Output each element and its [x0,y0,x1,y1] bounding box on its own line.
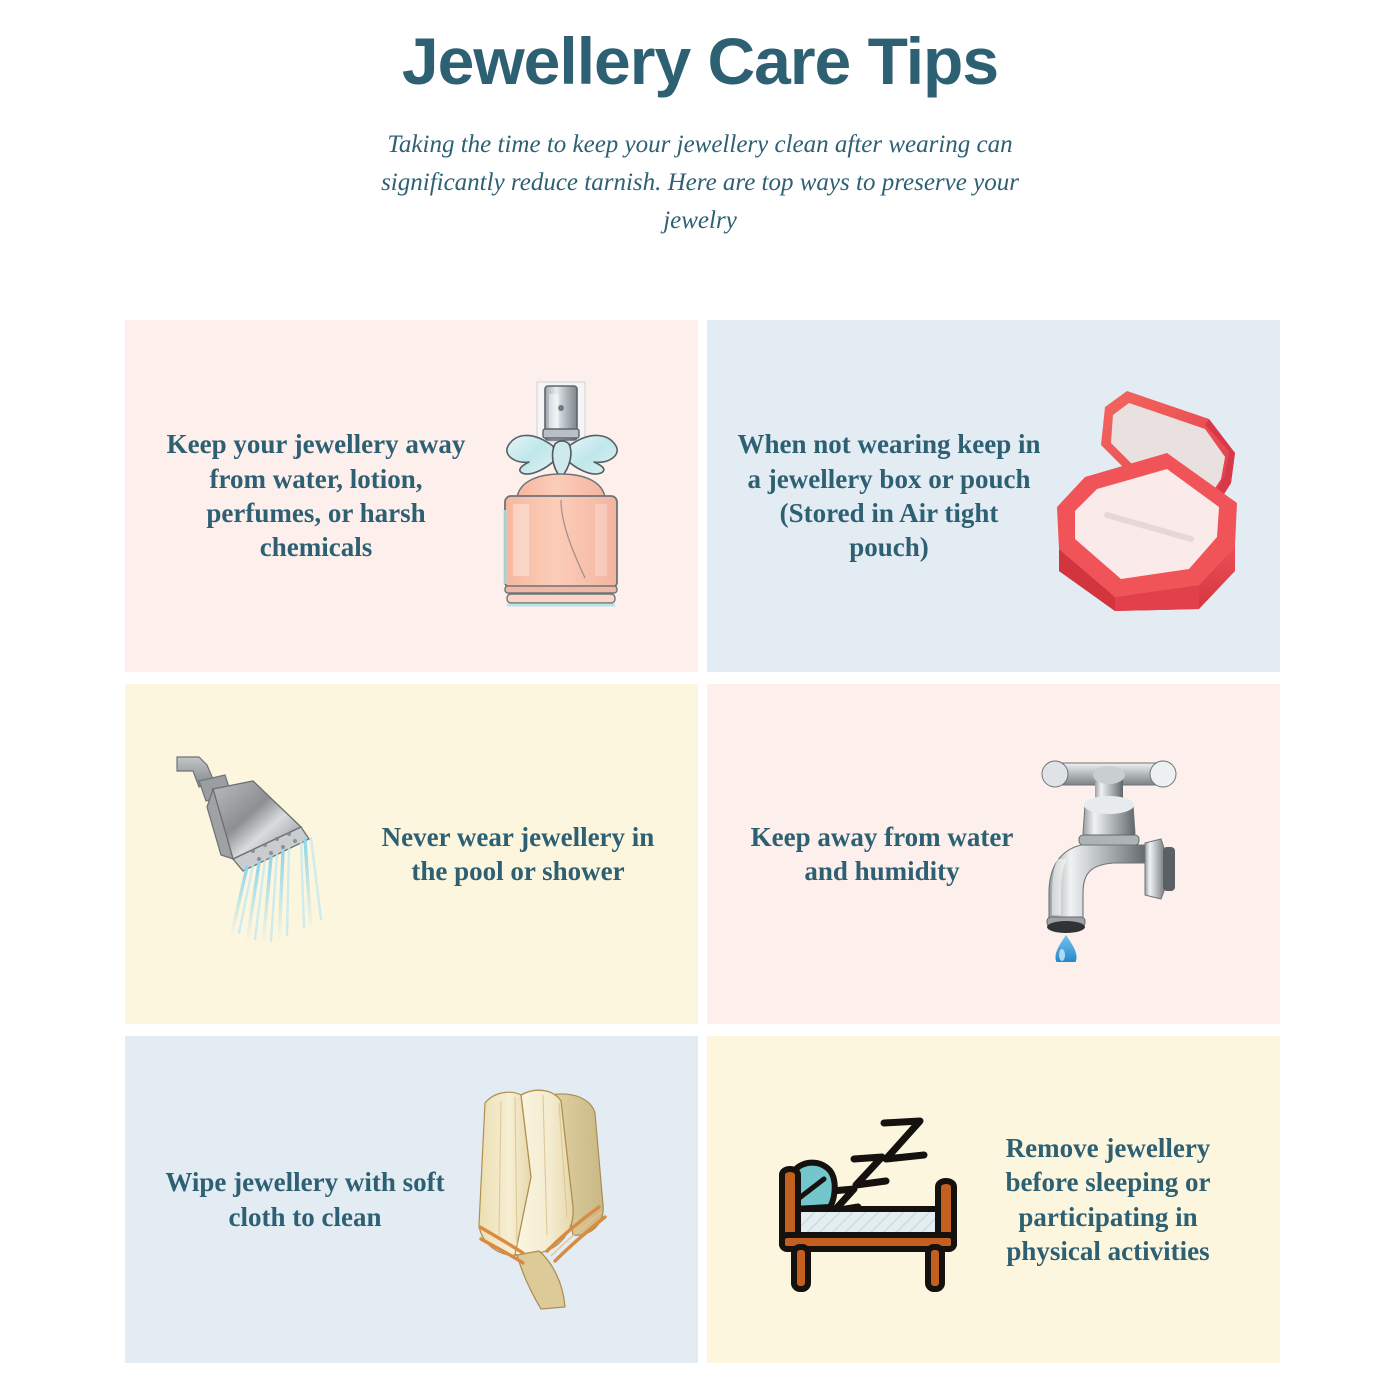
tip-card-text: Wipe jewellery with soft cloth to clean [155,1165,455,1234]
infographic-page: Jewellery Care Tips Taking the time to k… [0,0,1400,1400]
shower-head-icon [173,747,368,962]
faucet-icon [1027,747,1192,962]
ring-box-icon [1049,379,1249,614]
bed-sleeping-icon [768,1105,968,1295]
card-artwork [1049,379,1249,614]
tip-card-store-in-box: When not wearing keep in a jewellery box… [707,320,1280,672]
tip-card-text: Never wear jewellery in the pool or show… [368,820,668,889]
card-artwork [481,374,641,619]
page-subtitle: Taking the time to keep your jewellery c… [380,126,1020,240]
tip-card-text: Keep away from water and humidity [737,820,1027,889]
tip-card-text: Remove jewellery before sleeping or part… [968,1131,1248,1268]
perfume-bottle-icon [481,374,641,619]
tips-grid: Keep your jewellery away from water, lot… [125,320,1280,1363]
card-artwork [455,1085,620,1315]
card-artwork [173,747,368,962]
page-title: Jewellery Care Tips [0,24,1400,100]
tip-card-wipe-with-cloth: Wipe jewellery with soft cloth to clean [125,1036,698,1363]
tip-card-remove-before-sleeping: Remove jewellery before sleeping or part… [707,1036,1280,1363]
header: Jewellery Care Tips Taking the time to k… [0,0,1400,240]
tip-card-text: Keep your jewellery away from water, lot… [151,427,481,564]
cloth-icon [455,1085,620,1315]
tip-card-away-from-chemicals: Keep your jewellery away from water, lot… [125,320,698,672]
tip-card-no-pool-or-shower: Never wear jewellery in the pool or show… [125,684,698,1024]
card-artwork [1027,747,1192,962]
tip-card-away-from-water: Keep away from water and humidity [707,684,1280,1024]
card-artwork [768,1105,968,1295]
tip-card-text: When not wearing keep in a jewellery box… [729,427,1049,564]
